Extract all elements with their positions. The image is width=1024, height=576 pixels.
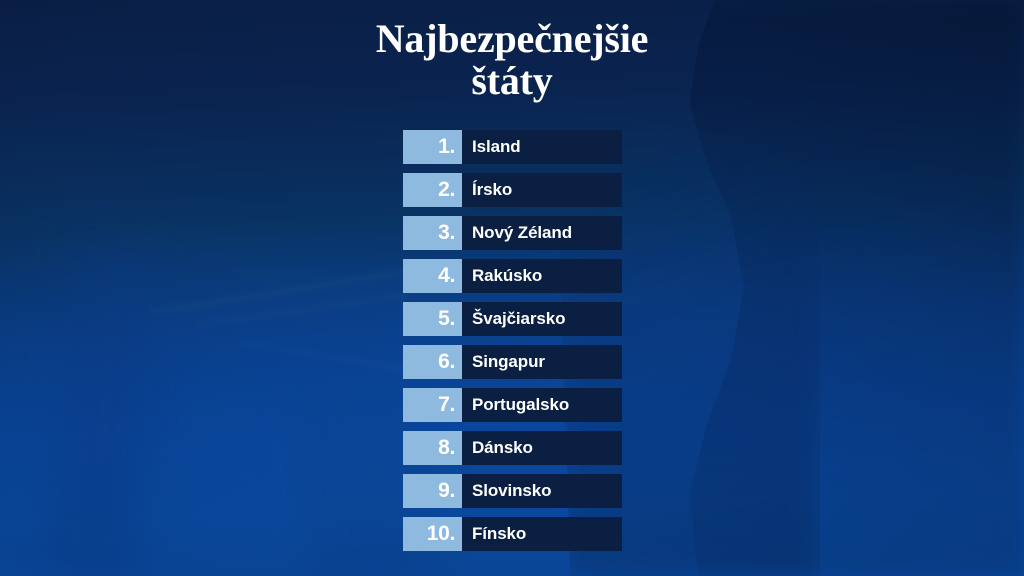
country-label: Rakúsko xyxy=(462,259,622,293)
country-label: Fínsko xyxy=(462,517,622,551)
list-item: 3. Nový Zéland xyxy=(403,216,622,250)
infographic-slide: Najbezpečnejšie štáty 1. Island 2. Írsko… xyxy=(0,0,1024,576)
country-label: Slovinsko xyxy=(462,474,622,508)
rank-badge: 2. xyxy=(403,173,462,207)
rank-badge: 9. xyxy=(403,474,462,508)
page-title-line-1: Najbezpečnejšie xyxy=(0,18,1024,60)
country-label: Dánsko xyxy=(462,431,622,465)
list-item: 9. Slovinsko xyxy=(403,474,622,508)
list-item: 8. Dánsko xyxy=(403,431,622,465)
country-label: Portugalsko xyxy=(462,388,622,422)
rank-badge: 3. xyxy=(403,216,462,250)
list-item: 4. Rakúsko xyxy=(403,259,622,293)
ranking-list: 1. Island 2. Írsko 3. Nový Zéland 4. Rak… xyxy=(403,130,622,551)
rank-badge: 10. xyxy=(403,517,462,551)
rank-badge: 8. xyxy=(403,431,462,465)
list-item: 5. Švajčiarsko xyxy=(403,302,622,336)
rank-badge: 1. xyxy=(403,130,462,164)
country-label: Island xyxy=(462,130,622,164)
country-label: Švajčiarsko xyxy=(462,302,622,336)
country-label: Írsko xyxy=(462,173,622,207)
list-item: 1. Island xyxy=(403,130,622,164)
rank-badge: 5. xyxy=(403,302,462,336)
rank-badge: 6. xyxy=(403,345,462,379)
list-item: 2. Írsko xyxy=(403,173,622,207)
page-title-line-2: štáty xyxy=(0,60,1024,102)
rank-badge: 4. xyxy=(403,259,462,293)
country-label: Nový Zéland xyxy=(462,216,622,250)
list-item: 7. Portugalsko xyxy=(403,388,622,422)
list-item: 10. Fínsko xyxy=(403,517,622,551)
country-label: Singapur xyxy=(462,345,622,379)
page-title: Najbezpečnejšie štáty xyxy=(0,18,1024,103)
rank-badge: 7. xyxy=(403,388,462,422)
list-item: 6. Singapur xyxy=(403,345,622,379)
